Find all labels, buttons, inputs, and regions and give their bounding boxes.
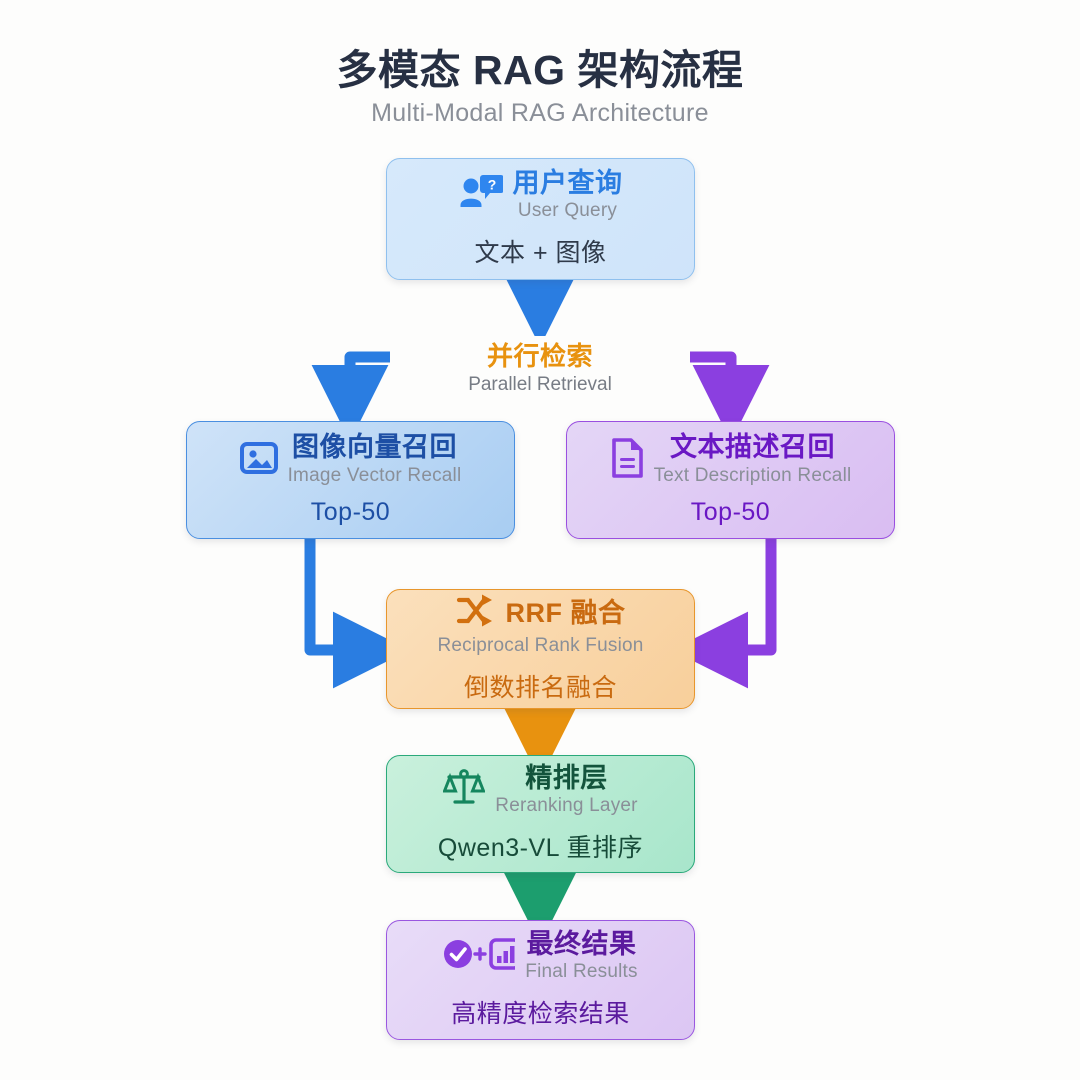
parallel-retrieval-zh: 并行检索 bbox=[396, 336, 684, 373]
node-text-description-recall-zh: 文本描述召回 bbox=[670, 433, 835, 463]
check-plus-chart-icon bbox=[443, 936, 515, 977]
node-image-vector-recall-en: Image Vector Recall bbox=[288, 465, 462, 487]
node-reranking-layer-en: Reranking Layer bbox=[495, 795, 637, 817]
node-image-vector-recall[interactable]: 图像向量召回 Image Vector Recall Top-50 bbox=[186, 421, 515, 539]
node-reranking-layer-zh: 精排层 bbox=[525, 764, 608, 794]
node-final-results-en: Final Results bbox=[525, 961, 637, 983]
arrow-image-recall-to-rrf bbox=[310, 539, 368, 650]
diagram-canvas: 多模态 RAG 架构流程 Multi-Modal RAG Architectur… bbox=[0, 0, 1080, 1080]
parallel-retrieval-label: 并行检索 Parallel Retrieval bbox=[390, 336, 690, 396]
node-text-description-recall[interactable]: 文本描述召回 Text Description Recall Top-50 bbox=[566, 421, 895, 539]
node-final-results[interactable]: 最终结果 Final Results 高精度检索结果 bbox=[386, 920, 695, 1040]
node-user-query[interactable]: ? 用户查询 User Query 文本 + 图像 bbox=[386, 158, 695, 280]
node-final-results-detail: 高精度检索结果 bbox=[451, 994, 630, 1030]
node-rrf-fusion-en: Reciprocal Rank Fusion bbox=[437, 635, 643, 657]
node-reranking-layer[interactable]: 精排层 Reranking Layer Qwen3-VL 重排序 bbox=[386, 755, 695, 873]
svg-text:?: ? bbox=[487, 177, 496, 193]
node-image-vector-recall-detail: Top-50 bbox=[311, 498, 390, 527]
node-user-query-en: User Query bbox=[518, 200, 617, 222]
scales-icon bbox=[443, 768, 485, 813]
image-icon bbox=[240, 439, 278, 482]
node-reranking-layer-detail: Qwen3-VL 重排序 bbox=[438, 828, 643, 864]
document-icon bbox=[610, 438, 644, 483]
node-user-query-zh: 用户查询 bbox=[513, 169, 623, 199]
node-image-vector-recall-zh: 图像向量召回 bbox=[292, 433, 457, 463]
parallel-retrieval-en: Parallel Retrieval bbox=[396, 374, 684, 396]
node-rrf-fusion-zh: RRF 融合 bbox=[506, 599, 626, 629]
node-user-query-detail: 文本 + 图像 bbox=[475, 233, 607, 269]
arrow-text-recall-to-rrf bbox=[713, 539, 771, 650]
node-rrf-fusion-detail: 倒数排名融合 bbox=[464, 668, 617, 704]
node-text-description-recall-en: Text Description Recall bbox=[654, 465, 852, 487]
shuffle-icon bbox=[456, 594, 496, 633]
user-question-icon: ? bbox=[459, 174, 503, 217]
node-rrf-fusion[interactable]: RRF 融合 Reciprocal Rank Fusion 倒数排名融合 bbox=[386, 589, 695, 709]
node-text-description-recall-detail: Top-50 bbox=[691, 498, 770, 527]
node-final-results-zh: 最终结果 bbox=[526, 930, 636, 960]
